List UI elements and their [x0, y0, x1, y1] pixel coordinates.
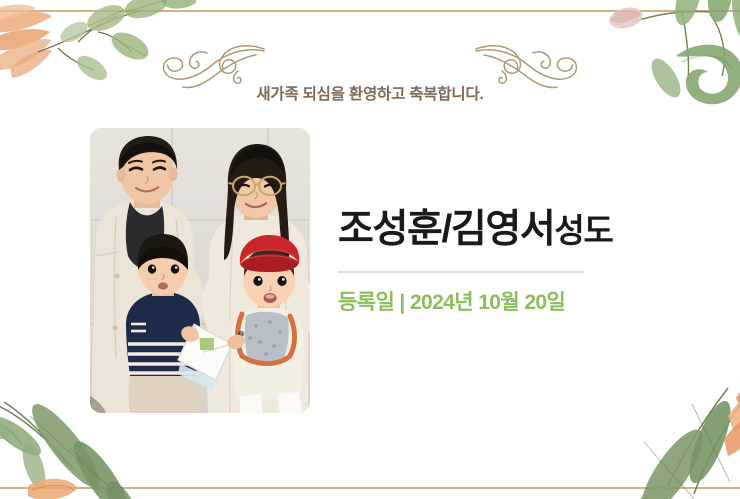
- page-title: 조성훈/김영서성도: [338, 208, 710, 252]
- family-photo[interactable]: [90, 128, 310, 413]
- registration-details: 조성훈/김영서성도 등록일 | 2024년 10월 20일: [338, 208, 710, 316]
- greeting-text: 새가족 되심을 환영하고 축복합니다.: [256, 87, 483, 103]
- registration-date: 등록일 | 2024년 10월 20일: [338, 286, 710, 316]
- top-gold-border-line: [0, 10, 740, 12]
- registration-date-label: 등록일: [338, 291, 394, 314]
- flourish-ornament-right-icon: [470, 41, 588, 104]
- family-names-suffix: 성도: [554, 212, 612, 249]
- registration-date-separator: |: [399, 291, 404, 314]
- floral-decoration-bottom-right-icon: [568, 344, 740, 499]
- registration-date-value: 2024년 10월 20일: [410, 291, 565, 314]
- divider: [338, 271, 584, 273]
- bottom-gold-border-line: [0, 487, 740, 489]
- family-names-text: 조성훈/김영서: [338, 208, 554, 251]
- flourish-ornament-left-icon: [152, 41, 270, 104]
- new-family-welcome-card: 새가족 되심을 환영하고 축복합니다.: [0, 0, 740, 499]
- header-block: 새가족 되심을 환영하고 축복합니다.: [0, 36, 740, 106]
